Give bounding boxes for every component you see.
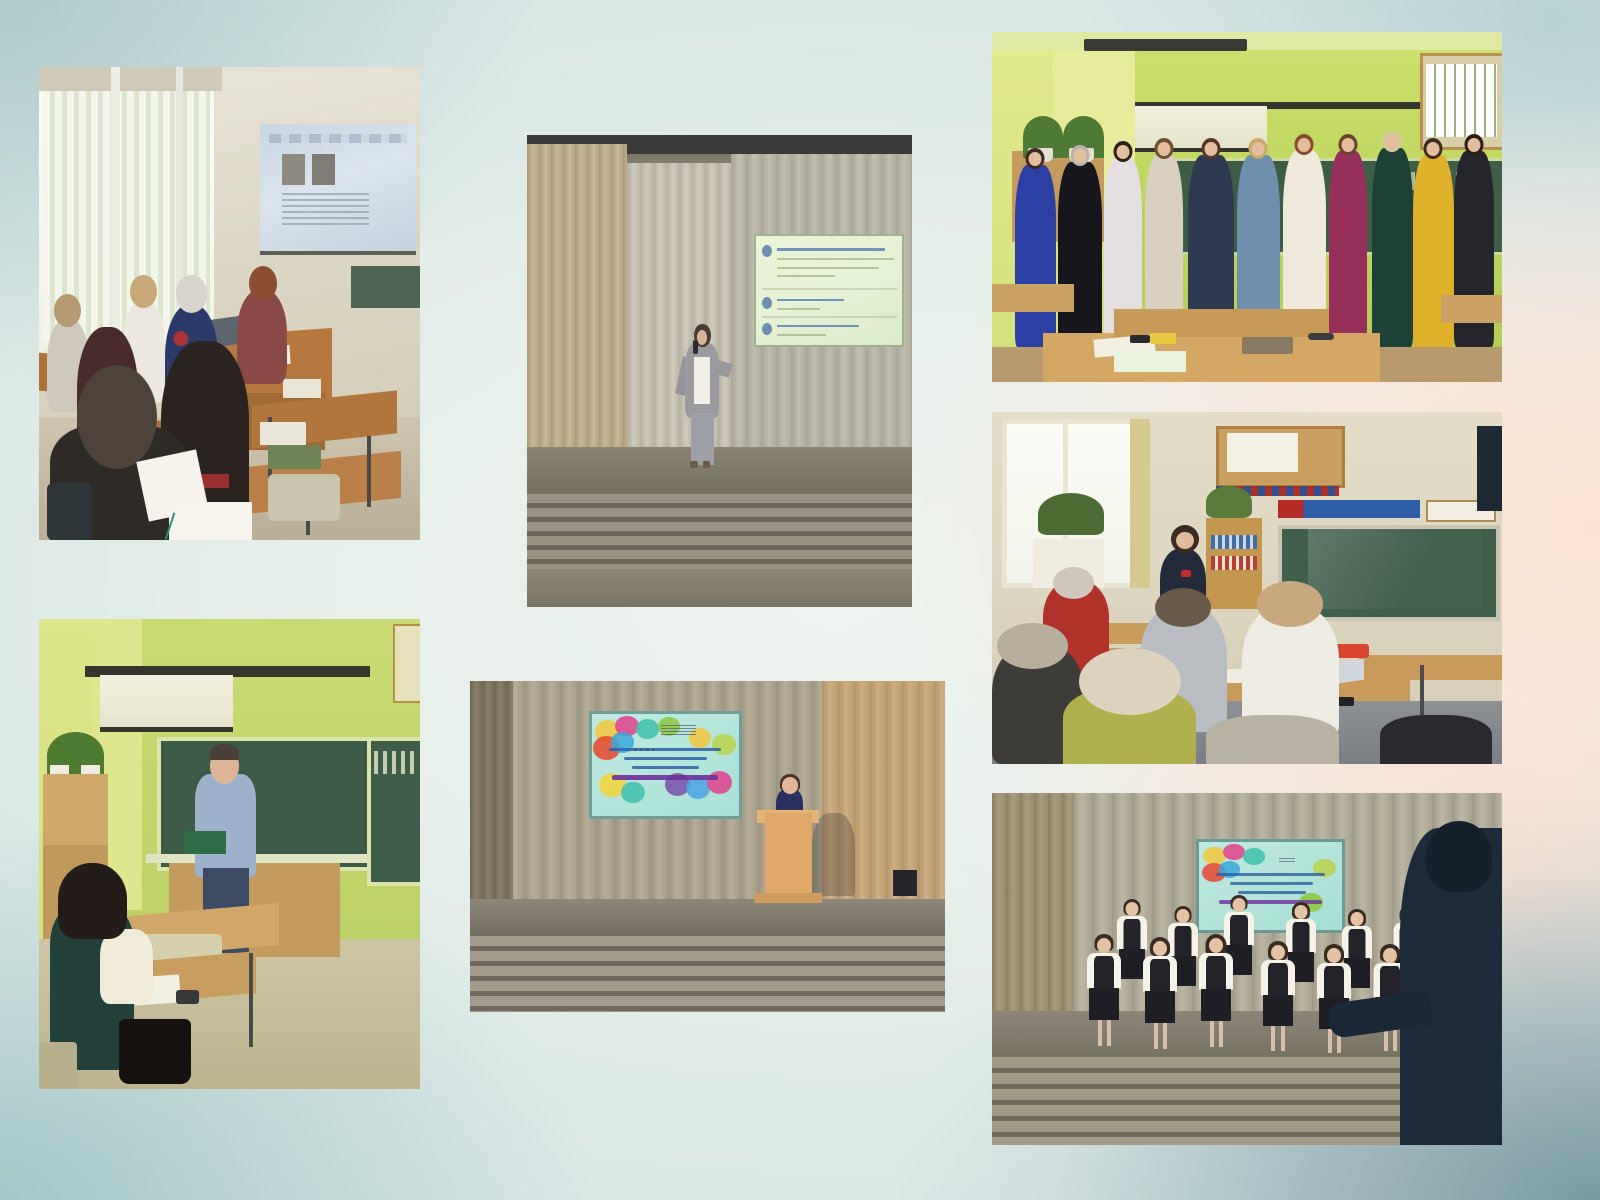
person-head-foreground [77,365,157,469]
person-face [1298,138,1311,152]
loudspeaker [893,870,917,896]
child-face [1271,945,1285,960]
slide-divider [762,316,897,318]
child-leg [1163,1023,1167,1049]
curtain [1130,419,1150,588]
person-group-member [1372,148,1413,348]
photo-lectern-opening[interactable] [470,681,945,1012]
conductor-head [1426,821,1492,891]
presenter-shirt [195,774,256,877]
presenter-face [782,777,798,794]
slide-organizer-text [1279,858,1295,862]
stage-curtain-left [992,793,1074,1011]
child-face [1097,938,1111,953]
shoe [703,461,711,469]
shoe [690,461,698,469]
person-face [1205,142,1218,156]
person-hair [1053,567,1094,599]
child-leg [1154,1023,1158,1049]
listener-hair [58,863,127,938]
child-skirt [1263,995,1293,1026]
slide-text-line [777,267,879,269]
slide-header-band [269,134,406,143]
slide-text-block [282,193,369,226]
photo-6-scene [470,681,945,1012]
child-skirt [1089,988,1119,1020]
person-hair [1155,588,1211,627]
child-leg [1098,1020,1102,1046]
photo-5-scene [39,619,420,1089]
projection-screen-edge [1477,426,1503,510]
person-foreground [1380,715,1492,764]
photo-classroom-audience[interactable] [39,67,420,540]
child-vest [1094,956,1114,988]
avatar-icon [762,297,772,309]
person-head [54,294,81,327]
slide-organizer-text [661,725,696,736]
child-face [1350,912,1363,926]
notepad [169,502,253,540]
person-face [1427,142,1440,156]
slide-text-line [777,248,885,251]
photo-2-scene [527,135,912,607]
potted-plant [1206,486,1252,518]
cast-shadow [812,813,855,896]
child-leg [1393,1027,1397,1051]
person-face [1073,149,1086,163]
child-vest [1380,966,1400,997]
microphone-icon [693,340,698,354]
notebook [268,445,321,469]
hall-floor [527,569,912,607]
book [283,379,321,398]
person-face [1158,142,1171,156]
desk-leg [249,953,253,1047]
person-foreground [1206,715,1339,764]
stage-steps [470,936,945,1012]
child-vest [1268,963,1288,995]
child-leg [1219,1021,1223,1047]
speaker-face [697,330,707,344]
alphabet-strip [1278,500,1421,518]
chalkboard-writing [374,751,416,775]
chair [268,474,340,521]
person-face [1386,135,1399,149]
books-row [1211,556,1257,570]
stage-curtain-left [527,144,627,456]
handbag [119,1019,191,1085]
person-hair [1079,648,1181,715]
chalkboard-glare [1308,528,1481,609]
lectern [765,813,813,899]
slide-heading-line-1 [1216,873,1325,876]
child-leg [1271,1026,1275,1051]
decor-bubble-icon [1243,848,1264,865]
lectern-base [755,893,822,903]
photo-1-scene [39,67,420,540]
listener-sleeve [100,929,153,1004]
slide-image-right [312,154,335,185]
decor-bubble-icon [621,782,645,804]
desk [992,284,1074,312]
child-vest [1324,966,1344,998]
avatar-icon [762,245,772,257]
decor-bubble-icon [686,777,710,799]
roll-down-projection-screen [100,675,233,732]
child-face [1383,948,1397,963]
photo-stage-speaker-mic[interactable] [527,135,912,607]
person-group-member [1329,151,1367,347]
desk-leg [367,436,371,507]
photo-3-scene [992,32,1502,382]
photo-7-scene [992,793,1502,1145]
child-face [1126,902,1139,916]
pencil-case [1150,333,1176,344]
child-vest [1206,956,1226,989]
decor-bubble-icon [1223,844,1244,861]
slide-heading-line-1 [609,748,721,751]
lapel-badge [1181,570,1191,577]
stage-curtain-left-dark [470,681,513,899]
photo-classroom-session[interactable] [992,412,1502,764]
choir-child [1252,941,1303,1121]
child-skirt [1145,991,1175,1023]
decor-bubble-icon [636,719,660,740]
slide-date-text [634,748,653,751]
choir-child [1079,934,1130,1117]
chalkboard-edge [351,266,420,309]
child-face [1177,909,1190,923]
slide-text-line [777,325,859,327]
wall-poster [393,624,420,703]
choir-child [1135,937,1186,1120]
slide-text-line [777,334,827,336]
chair-back [39,1042,77,1089]
choir-child [1191,934,1242,1121]
child-face [1294,905,1307,919]
phone [1130,335,1150,343]
person-face [1117,145,1130,159]
slide-text-line [777,308,821,310]
speaker-blouse [694,357,709,404]
title-slide-projection [589,711,742,820]
chalk-ledge [146,854,367,863]
person-face [1252,142,1265,156]
open-notebook [1114,351,1185,372]
person-hair [1257,581,1323,627]
child-skirt [1201,989,1231,1021]
avatar-icon [762,323,772,335]
child-leg [1107,1020,1111,1046]
held-book [184,831,226,855]
slide-text-line [777,299,844,301]
open-notebook [260,422,306,446]
ceiling-lamp [1084,39,1247,51]
stage-floor [470,899,945,939]
speaker-trousers [691,413,714,465]
person-face [1341,138,1354,152]
slide-image-left [282,154,305,185]
child-face [1209,938,1223,953]
chair [47,483,93,540]
person-group-member [1015,165,1056,347]
desk-mid [1114,309,1328,337]
slide-text-line [777,275,836,277]
presenter-hair [210,744,239,761]
photo-group-teachers[interactable] [992,32,1502,382]
decor-bubble-icon [712,734,736,755]
child-leg [1210,1021,1214,1047]
slide-heading-line-3 [1238,891,1307,894]
desk [1359,655,1502,680]
person-head [249,266,278,301]
person-face [1467,138,1480,152]
person-seated [237,289,287,384]
child-face [1153,941,1167,956]
collage-canvas [0,0,1600,1200]
child-face [1233,898,1246,912]
person-group-member [1058,162,1101,348]
projection-screen [754,234,904,347]
eyeglasses [176,990,199,1004]
person-hair [997,623,1068,669]
ceiling [992,32,1502,50]
projection-screen [260,124,416,256]
slide-heading-line-2 [624,757,706,760]
photo-4-scene [992,412,1502,764]
slide-heading-line-3 [632,766,700,769]
books-row [1211,535,1257,549]
window-mullion [111,67,120,351]
slide-text-line [777,258,894,260]
child-leg [1328,1029,1332,1053]
photo-teacher-presenting[interactable] [39,619,420,1089]
slide-heading-line-2 [1230,882,1313,885]
child-vest [1150,959,1170,991]
potted-plant [1038,493,1104,535]
speaker-face [1176,532,1194,550]
pinned-chart [1227,433,1298,472]
slide-divider [762,288,897,290]
blind-rail [39,67,222,91]
desk [1441,295,1502,323]
book [1242,337,1293,355]
child-leg [1281,1026,1285,1051]
slide-conference-name [612,775,718,780]
child-face [1327,948,1341,963]
person-head [176,275,206,313]
eyeglasses [1308,333,1334,340]
person-face [1029,152,1042,166]
photo-school-choir[interactable] [992,793,1502,1145]
poster-picture-grid [1426,64,1497,138]
